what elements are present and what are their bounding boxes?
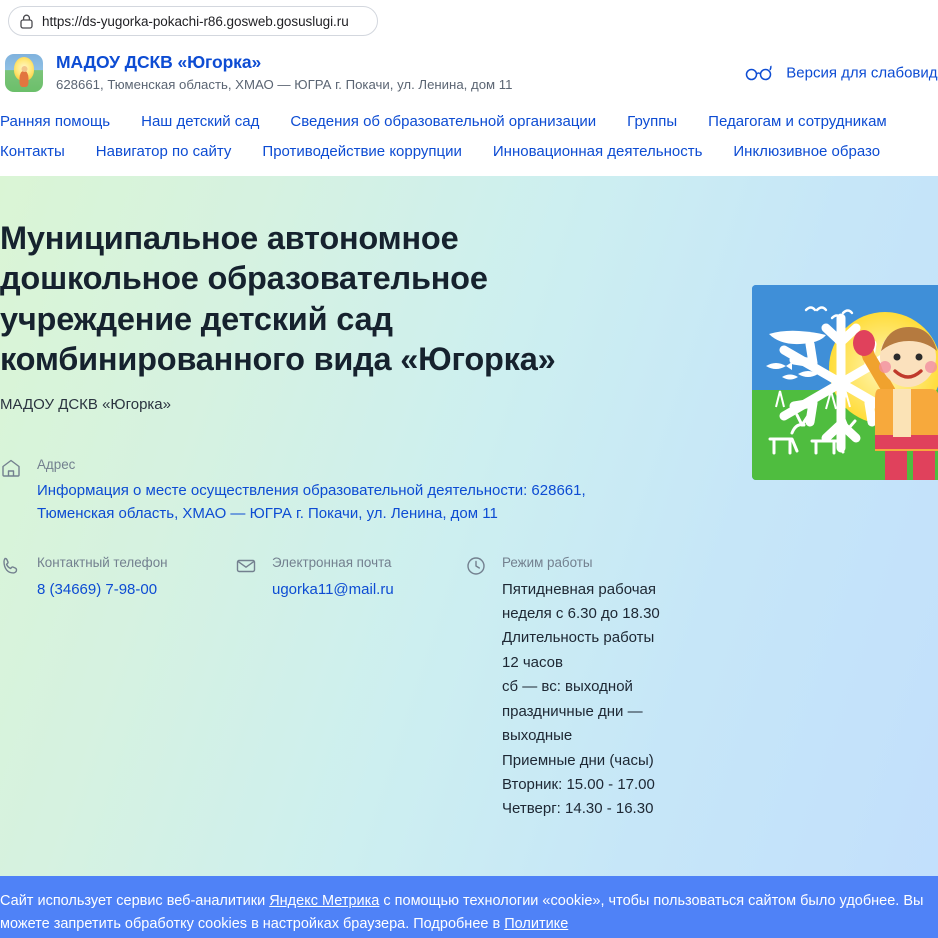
- address-value[interactable]: Информация о месте осуществления образов…: [37, 479, 612, 526]
- email-value[interactable]: ugorka11@mail.ru: [272, 578, 394, 601]
- mail-icon: [235, 555, 257, 577]
- hours-line: Четверг: 14.30 - 16.30: [502, 797, 660, 821]
- hours-line: Приемные дни (часы): [502, 749, 660, 773]
- address-label: Адрес: [37, 455, 612, 475]
- yugorka-illustration: [752, 285, 938, 480]
- nav-row-1: Ранняя помощь Наш детский сад Сведения о…: [0, 107, 938, 137]
- nav-item-gruppy[interactable]: Группы: [627, 107, 677, 137]
- hours-line: выходные: [502, 724, 660, 748]
- hours-label: Режим работы: [502, 553, 660, 573]
- hours-line: Пятидневная рабочая: [502, 578, 660, 602]
- hours-line: неделя с 6.30 до 18.30: [502, 602, 660, 626]
- org-address: 628661, Тюменская область, ХМАО — ЮГРА г…: [56, 75, 512, 94]
- header-right-actions: Версия для слабовидящ: [745, 65, 938, 82]
- page-title: Муниципальное автономное дошкольное обра…: [0, 218, 610, 380]
- nav-item-pedagogam[interactable]: Педагогам и сотрудникам: [708, 107, 887, 137]
- policy-link[interactable]: Политике: [504, 916, 568, 932]
- hours-line: 12 часов: [502, 651, 660, 675]
- hours-value: Пятидневная рабочая неделя с 6.30 до 18.…: [502, 578, 660, 822]
- home-icon: [0, 457, 22, 479]
- nav-item-navigator[interactable]: Навигатор по сайту: [96, 137, 232, 167]
- nav-item-innovacionnaya[interactable]: Инновационная деятельность: [493, 137, 703, 167]
- nav-item-inklyuzivnoe[interactable]: Инклюзивное образо: [733, 137, 880, 167]
- hours-line: Вторник: 15.00 - 17.00: [502, 773, 660, 797]
- url-text: https://ds-yugorka-pokachi-r86.gosweb.go…: [42, 14, 349, 29]
- email-label: Электронная почта: [272, 553, 394, 573]
- glasses-icon[interactable]: [745, 66, 772, 81]
- url-input[interactable]: https://ds-yugorka-pokachi-r86.gosweb.go…: [8, 6, 378, 36]
- hours-line: праздничные дни —: [502, 700, 660, 724]
- nav-item-rannyaya-pomoshch[interactable]: Ранняя помощь: [0, 107, 110, 137]
- main-navigation: Ранняя помощь Наш детский сад Сведения о…: [0, 104, 938, 176]
- header-org-block: МАДОУ ДСКВ «Югорка» 628661, Тюменская об…: [56, 52, 512, 94]
- hours-block: Режим работы Пятидневная рабочая неделя …: [465, 553, 680, 821]
- yandex-metrika-link[interactable]: Яндекс Метрика: [269, 893, 379, 909]
- lock-icon: [20, 14, 33, 29]
- clock-icon: [465, 555, 487, 577]
- site-header: МАДОУ ДСКВ «Югорка» 628661, Тюменская об…: [0, 42, 938, 104]
- hours-line: сб — вс: выходной: [502, 675, 660, 699]
- phone-label: Контактный телефон: [37, 553, 168, 573]
- nav-item-protivodeystvie[interactable]: Противодействие коррупции: [262, 137, 461, 167]
- boat-icon: [766, 327, 828, 347]
- browser-address-bar: https://ds-yugorka-pokachi-r86.gosweb.go…: [0, 0, 938, 42]
- site-logo-icon[interactable]: [5, 54, 43, 92]
- contact-columns: Контактный телефон 8 (34669) 7-98-00 Эле…: [0, 553, 938, 821]
- phone-icon: [0, 555, 22, 577]
- email-block: Электронная почта ugorka11@mail.ru: [235, 553, 465, 821]
- phone-block: Контактный телефон 8 (34669) 7-98-00: [0, 553, 235, 821]
- vision-version-link[interactable]: Версия для слабовидящ: [786, 65, 938, 82]
- nav-item-svedeniya[interactable]: Сведения об образовательной организации: [290, 107, 596, 137]
- cookie-banner: Сайт использует сервис веб-аналитики Янд…: [0, 876, 938, 938]
- hours-line: Длительность работы: [502, 626, 660, 650]
- org-name: МАДОУ ДСКВ «Югорка»: [56, 52, 512, 74]
- cookie-text-1: Сайт использует сервис веб-аналитики: [0, 893, 269, 909]
- fish-icon: [764, 359, 840, 381]
- nav-item-nash-detskiy-sad[interactable]: Наш детский сад: [141, 107, 259, 137]
- logo-figure-shape: [20, 71, 29, 87]
- phone-value[interactable]: 8 (34669) 7-98-00: [37, 578, 168, 601]
- hero-section: Муниципальное автономное дошкольное обра…: [0, 176, 938, 938]
- nav-item-kontakty[interactable]: Контакты: [0, 137, 65, 167]
- child-figure-icon: [851, 313, 938, 480]
- nav-row-2: Контакты Навигатор по сайту Противодейст…: [0, 137, 938, 167]
